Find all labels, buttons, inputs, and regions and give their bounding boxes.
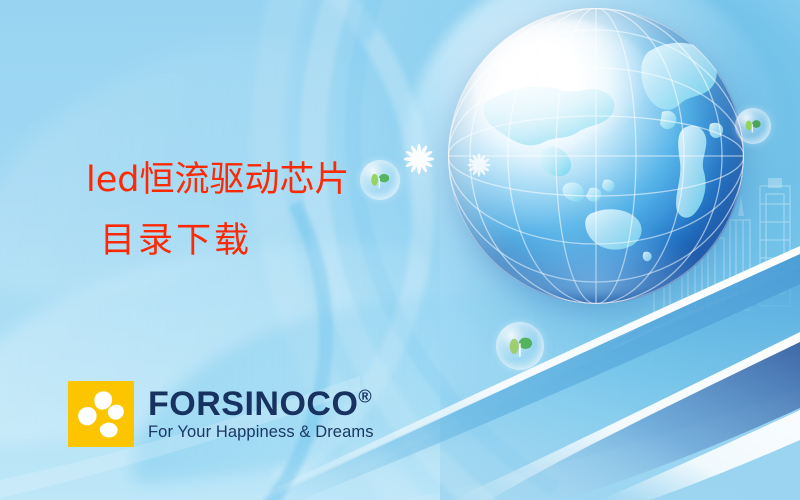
logo-text-block: FORSINOCO® For Your Happiness & Dreams [148,387,374,441]
brand-name-text: FORSINOCO [148,385,358,423]
brand-tagline: For Your Happiness & Dreams [148,424,374,441]
brand-logo[interactable]: FORSINOCO® For Your Happiness & Dreams [68,381,374,447]
eco-bubble [735,108,771,144]
brand-name: FORSINOCO® [148,387,374,421]
headline: led恒流驱动芯片 目录下载 [86,163,349,259]
world-globe [448,8,744,304]
pinwheel-petals-icon [68,381,134,447]
headline-line-2: 目录下载 [100,224,349,259]
globe-rim [448,8,744,304]
registered-trademark-symbol: ® [358,387,372,407]
eco-bubble [360,160,400,200]
headline-line-1: led恒流驱动芯片 [86,163,349,198]
globe-sphere [448,8,744,304]
forsinoco-pinwheel-mark [68,381,134,447]
daisy-flower-icon [466,152,492,178]
green-sprout-icon [741,114,764,137]
green-sprout-icon [505,331,536,362]
promo-banner: led恒流驱动芯片 目录下载 FORSINOCO® For Your Happi… [0,0,800,500]
green-sprout-icon [367,167,393,193]
daisy-flower-icon [402,142,436,176]
eco-bubble [496,322,544,370]
